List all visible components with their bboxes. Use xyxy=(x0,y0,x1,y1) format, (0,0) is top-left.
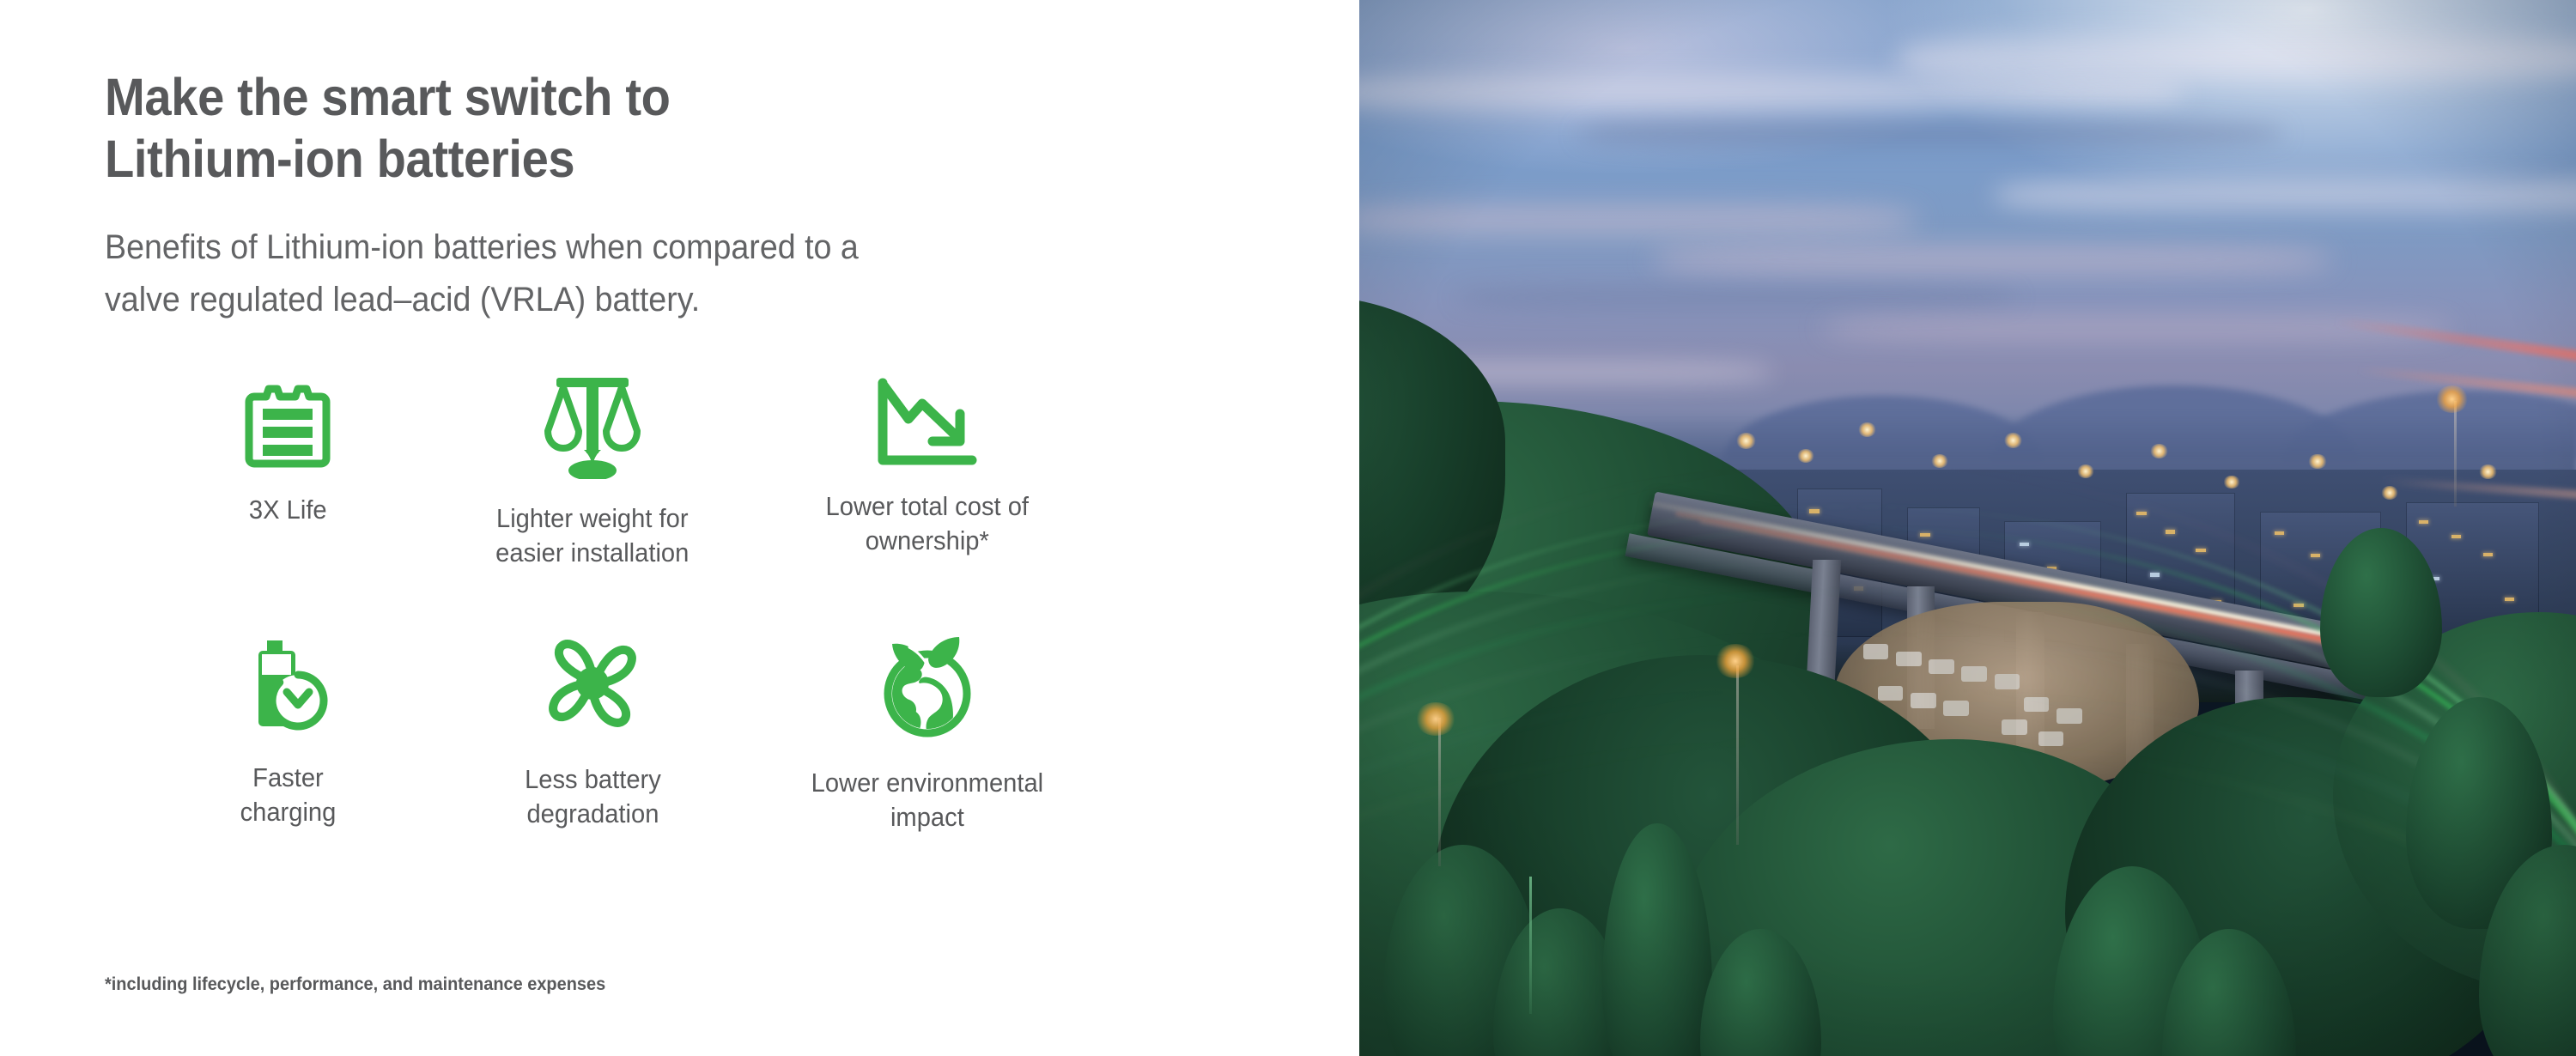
benefit-item-3x-life: 3X Life xyxy=(150,378,425,522)
cloud xyxy=(1359,201,1919,239)
street-lamp-glow xyxy=(2435,385,2470,413)
balance-scales-icon xyxy=(538,378,647,479)
cloud xyxy=(1894,21,2576,95)
road-light xyxy=(2004,433,2022,447)
benefit-item-environmental-impact: Lower environmental impact xyxy=(760,635,1095,771)
street-lamp-pole xyxy=(1438,718,1441,865)
street-lamp-pole xyxy=(2454,401,2457,507)
road-light xyxy=(2077,464,2094,478)
footnote: *including lifecycle, performance, and m… xyxy=(105,974,605,995)
benefit-label: Lighter weight for easier installation xyxy=(495,501,689,571)
slide-root: Make the smart switch to Lithium-ion bat… xyxy=(0,0,2576,1056)
road-light xyxy=(1736,433,1756,448)
benefit-label: Faster charging xyxy=(240,761,336,830)
benefit-label: 3X Life xyxy=(249,493,327,527)
road-light xyxy=(2381,486,2398,500)
benefit-label: Less battery degradation xyxy=(525,762,661,832)
road-light xyxy=(2150,444,2168,458)
benefit-item-faster-charging: Faster charging xyxy=(150,635,425,771)
page-title: Make the smart switch to Lithium-ion bat… xyxy=(105,67,1053,191)
four-petal-flower-icon xyxy=(542,635,643,737)
street-lamp-glow xyxy=(1715,644,1756,677)
benefit-label: Lower environmental impact xyxy=(811,766,1043,835)
page-subtitle: Benefits of Lithium-ion batteries when c… xyxy=(105,222,1114,326)
benefit-label: Lower total cost of ownership* xyxy=(826,489,1029,559)
street-lamp-pole xyxy=(1529,877,1532,1014)
declining-chart-icon xyxy=(874,378,981,467)
benefit-item-less-degradation: Less battery degradation xyxy=(425,635,760,771)
road-light xyxy=(1797,449,1814,463)
cloud xyxy=(1578,116,2284,152)
cloud xyxy=(1456,285,2016,311)
battery-bars-icon xyxy=(244,378,331,470)
road-light xyxy=(2223,476,2240,489)
content-pane: Make the smart switch to Lithium-ion bat… xyxy=(0,0,1359,1056)
street-lamp-pole xyxy=(1736,665,1739,845)
benefit-item-lower-cost: Lower total cost of ownership* xyxy=(760,378,1095,522)
battery-clock-icon xyxy=(241,635,334,735)
cloud xyxy=(1651,243,2333,276)
road-light xyxy=(2308,454,2326,469)
hero-photo xyxy=(1359,0,2576,1056)
road-light xyxy=(1931,454,1948,468)
benefit-item-lighter-weight: Lighter weight for easier installation xyxy=(425,378,760,522)
globe-leaf-icon xyxy=(875,635,980,740)
benefits-grid: 3X Life Lighter weight for easier insta xyxy=(150,378,1206,771)
